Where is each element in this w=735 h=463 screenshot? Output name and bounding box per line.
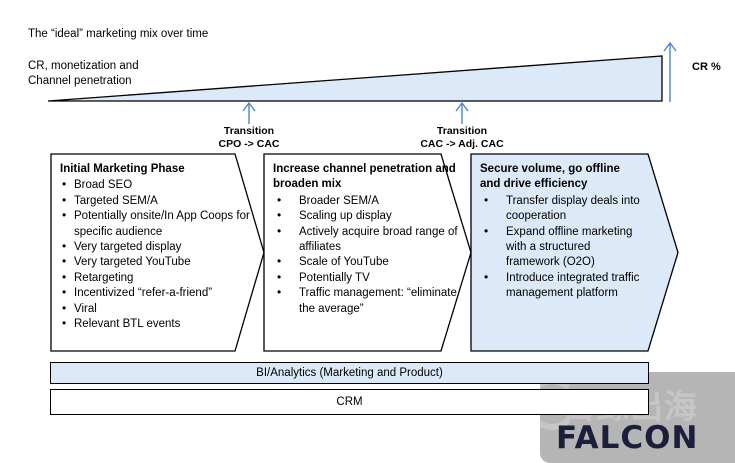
list-item: Viral [60,302,256,317]
phase-box-3-content: Secure volume, go offline and drive effi… [470,153,650,302]
list-item: Retargeting [60,271,256,286]
falcon-logo-text: FALCON [556,420,698,456]
bar-bi-analytics-label: BI/Analytics (Marketing and Product) [256,367,443,379]
transition-caption-2: Transition CAC -> Adj. CAC [394,125,530,151]
list-item: Relevant BTL events [60,317,256,332]
slide-canvas: 白鲸出海 FALCON The “ideal” marketing mix ov… [0,0,735,463]
list-item: Targeted SEM/A [60,194,256,209]
phase-box-1-title: Initial Marketing Phase [60,162,256,177]
bar-crm[interactable]: CRM [50,389,649,415]
cr-percent-label: CR % [692,61,721,73]
list-item: Very targeted display [60,240,256,255]
transition-caption-2-line2: CAC -> Adj. CAC [394,138,530,151]
phase-box-1-content: Initial Marketing Phase Broad SEO Target… [50,153,266,332]
y-axis-label-line1: CR, monetization and [28,59,139,74]
phase-box-secure-volume[interactable]: Secure volume, go offline and drive effi… [470,153,680,352]
transition-arrow-2-icon [456,103,468,124]
growth-wedge-shape [48,56,662,101]
cr-arrow-icon [664,43,676,102]
phase-box-1-list: Broad SEO Targeted SEM/A Potentially ons… [60,178,256,332]
list-item: Very targeted YouTube [60,255,256,270]
slide-title: The “ideal” marketing mix over time [28,27,208,42]
y-axis-label-line2: Channel penetration [28,74,139,89]
list-item: Potentially TV [273,271,465,286]
list-item: Expand offline marketing with a structur… [480,225,642,271]
phase-box-initial-marketing[interactable]: Initial Marketing Phase Broad SEO Target… [50,153,266,352]
bar-bi-analytics[interactable]: BI/Analytics (Marketing and Product) [50,362,649,384]
transition-caption-1-line1: Transition [186,125,312,138]
list-item: Transfer display deals into cooperation [480,194,642,225]
y-axis-label: CR, monetization and Channel penetration [28,59,139,89]
bar-crm-label: CRM [336,396,362,408]
list-item: Broad SEO [60,178,256,193]
list-item: Incentivized “refer-a-friend” [60,286,256,301]
list-item: Potentially onsite/In App Coops for spec… [60,209,256,240]
phase-box-3-title: Secure volume, go offline and drive effi… [480,162,642,193]
transition-caption-2-line1: Transition [394,125,530,138]
phase-box-2-content: Increase channel penetration and broaden… [263,153,473,317]
phase-box-increase-penetration[interactable]: Increase channel penetration and broaden… [263,153,473,352]
transition-caption-1-line2: CPO -> CAC [186,138,312,151]
list-item: Broader SEM/A [273,194,465,209]
list-item: Scaling up display [273,209,465,224]
transition-arrow-1-icon [243,103,255,124]
list-item: Scale of YouTube [273,255,465,270]
list-item: Introduce integrated traffic management … [480,271,642,302]
list-item: Traffic management: “eliminate the avera… [273,286,465,317]
phase-box-2-list: Broader SEM/A Scaling up display Activel… [273,194,465,317]
phase-box-2-title: Increase channel penetration and broaden… [273,162,465,193]
transition-caption-1: Transition CPO -> CAC [186,125,312,151]
list-item: Actively acquire broad range of affiliat… [273,225,465,256]
phase-box-3-list: Transfer display deals into cooperation … [480,194,642,302]
